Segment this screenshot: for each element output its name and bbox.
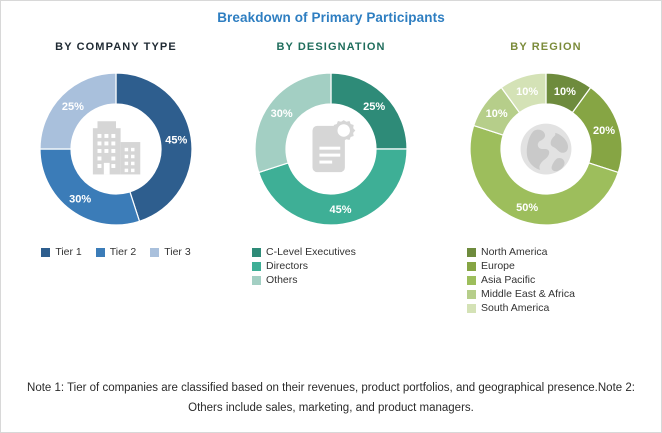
legend-swatch-icon	[252, 248, 261, 257]
legend-swatch-icon	[467, 248, 476, 257]
legend-label: Middle East & Africa	[481, 288, 575, 300]
legend-item[interactable]: Tier 2	[96, 246, 136, 258]
legend-item[interactable]: South America	[467, 302, 575, 314]
legend-swatch-icon	[467, 262, 476, 271]
legend-company-type: Tier 1 Tier 2 Tier 3	[41, 246, 190, 258]
donut-region: 10%20%50%10%10%	[456, 59, 636, 239]
legend-label: Directors	[266, 260, 308, 272]
slice-value-label: 30%	[69, 193, 91, 205]
legend-label: Tier 2	[110, 246, 136, 258]
chart-title-designation: BY DESIGNATION	[276, 41, 385, 53]
legend-item[interactable]: Directors	[252, 260, 356, 272]
slice-value-label: 45%	[165, 134, 187, 146]
donut-slice[interactable]	[255, 73, 331, 172]
slice-value-label: 25%	[363, 101, 385, 113]
slice-value-label: 50%	[516, 202, 538, 214]
legend-item[interactable]: Tier 3	[150, 246, 190, 258]
legend-swatch-icon	[467, 276, 476, 285]
chart-by-company-type: BY COMPANY TYPE 45%30%25%	[9, 41, 223, 314]
slice-value-label: 10%	[554, 86, 576, 98]
slice-value-label: 30%	[271, 108, 293, 120]
legend-item[interactable]: C-Level Executives	[252, 246, 356, 258]
legend-label: Tier 3	[164, 246, 190, 258]
chart-by-designation: BY DESIGNATION 25%45%30%	[224, 41, 438, 314]
legend-region: North America Europe Asia Pacific Middle…	[467, 246, 575, 314]
legend-item[interactable]: Middle East & Africa	[467, 288, 575, 300]
legend-swatch-icon	[252, 276, 261, 285]
legend-swatch-icon	[150, 248, 159, 257]
chart-title-region: BY REGION	[510, 41, 581, 53]
slice-value-label: 10%	[516, 86, 538, 98]
donut-company-type: 45%30%25%	[26, 59, 206, 239]
slice-value-label: 25%	[62, 101, 84, 113]
legend-item[interactable]: Tier 1	[41, 246, 81, 258]
page-title: Breakdown of Primary Participants	[1, 1, 661, 25]
legend-designation: C-Level Executives Directors Others	[252, 246, 356, 286]
charts-row: BY COMPANY TYPE 45%30%25%	[1, 41, 661, 314]
chart-title-company-type: BY COMPANY TYPE	[55, 41, 177, 53]
legend-label: South America	[481, 302, 549, 314]
slice-value-label: 20%	[593, 125, 615, 137]
legend-item[interactable]: Others	[252, 274, 356, 286]
legend-label: Asia Pacific	[481, 274, 535, 286]
legend-item[interactable]: North America	[467, 246, 575, 258]
legend-label: C-Level Executives	[266, 246, 356, 258]
legend-label: Europe	[481, 260, 515, 272]
legend-item[interactable]: Asia Pacific	[467, 274, 575, 286]
footer-note: Note 1: Tier of companies are classified…	[1, 378, 661, 418]
legend-item[interactable]: Europe	[467, 260, 575, 272]
legend-label: Tier 1	[55, 246, 81, 258]
slice-value-label: 45%	[330, 204, 352, 216]
legend-swatch-icon	[467, 290, 476, 299]
legend-swatch-icon	[467, 304, 476, 313]
donut-svg-company-type: 45%30%25%	[26, 59, 206, 239]
legend-swatch-icon	[252, 262, 261, 271]
donut-svg-region: 10%20%50%10%10%	[456, 59, 636, 239]
slice-value-label: 10%	[486, 108, 508, 120]
donut-designation: 25%45%30%	[241, 59, 421, 239]
legend-label: Others	[266, 274, 298, 286]
legend-swatch-icon	[96, 248, 105, 257]
donut-slice[interactable]	[40, 149, 139, 225]
chart-by-region: BY REGION 10%20%50%10%10% North America …	[439, 41, 653, 314]
legend-swatch-icon	[41, 248, 50, 257]
legend-label: North America	[481, 246, 548, 258]
donut-svg-designation: 25%45%30%	[241, 59, 421, 239]
